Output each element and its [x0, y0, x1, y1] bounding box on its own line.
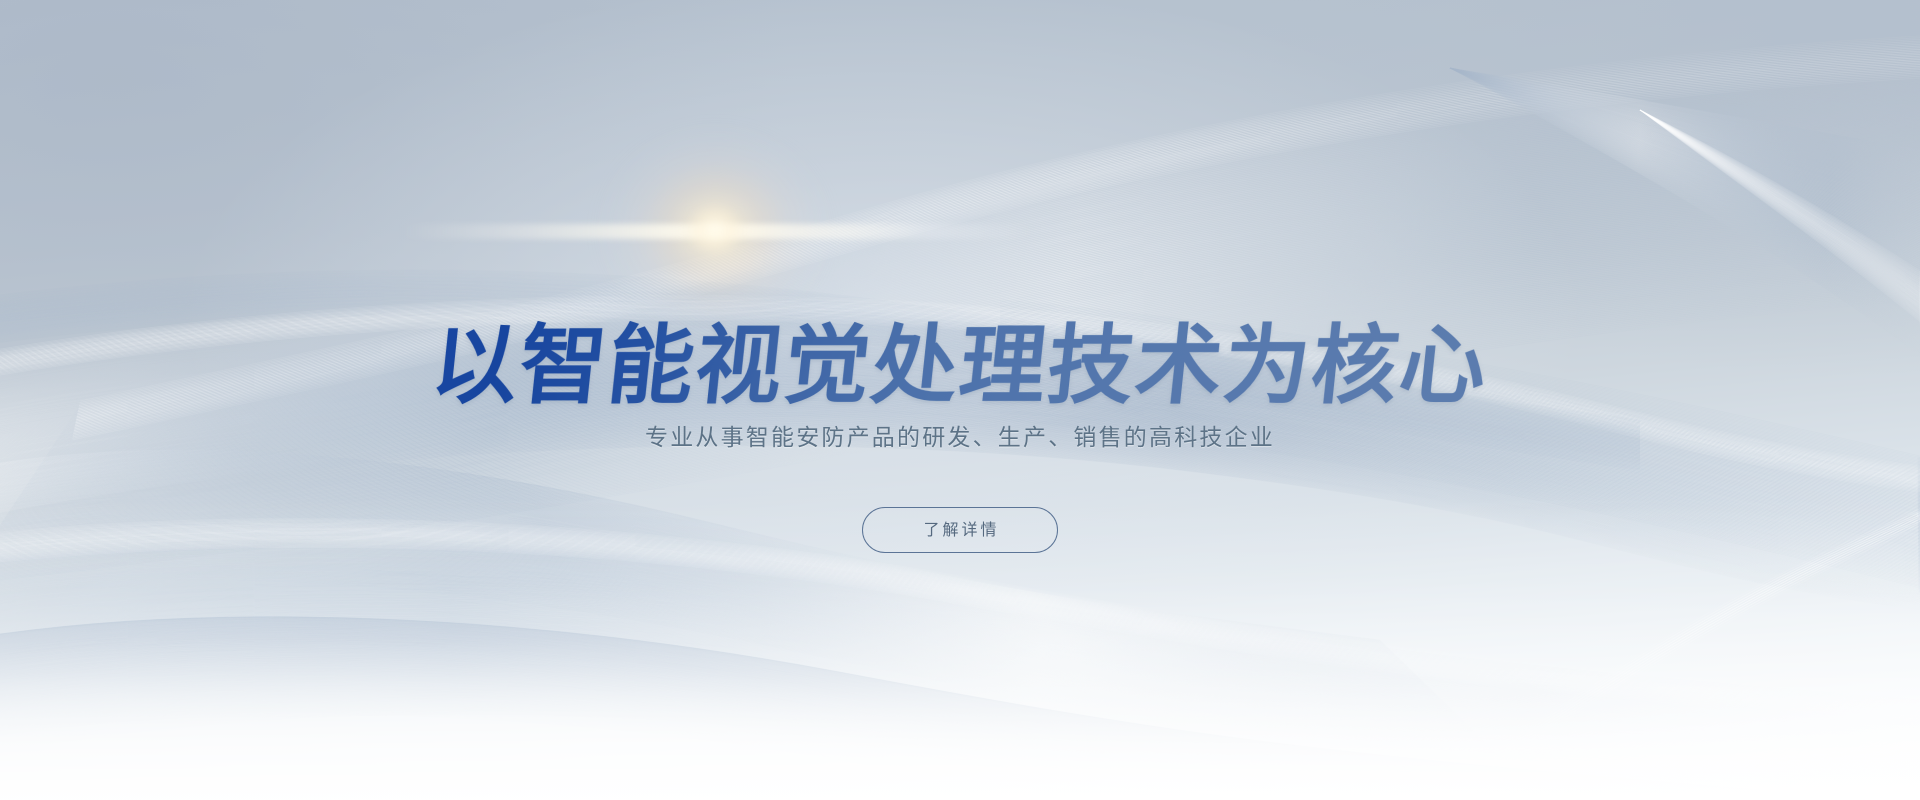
hero-banner: 以智能视觉处理技术为核心 专业从事智能安防产品的研发、生产、销售的高科技企业 了…: [0, 0, 1920, 800]
hero-subtitle: 专业从事智能安防产品的研发、生产、销售的高科技企业: [0, 421, 1920, 455]
learn-more-button[interactable]: 了解详情: [862, 507, 1058, 553]
hero-headline: 以智能视觉处理技术为核心: [0, 316, 1920, 416]
cta-container: 了解详情: [862, 507, 1058, 553]
hero-content: 以智能视觉处理技术为核心 专业从事智能安防产品的研发、生产、销售的高科技企业 了…: [0, 0, 1920, 800]
